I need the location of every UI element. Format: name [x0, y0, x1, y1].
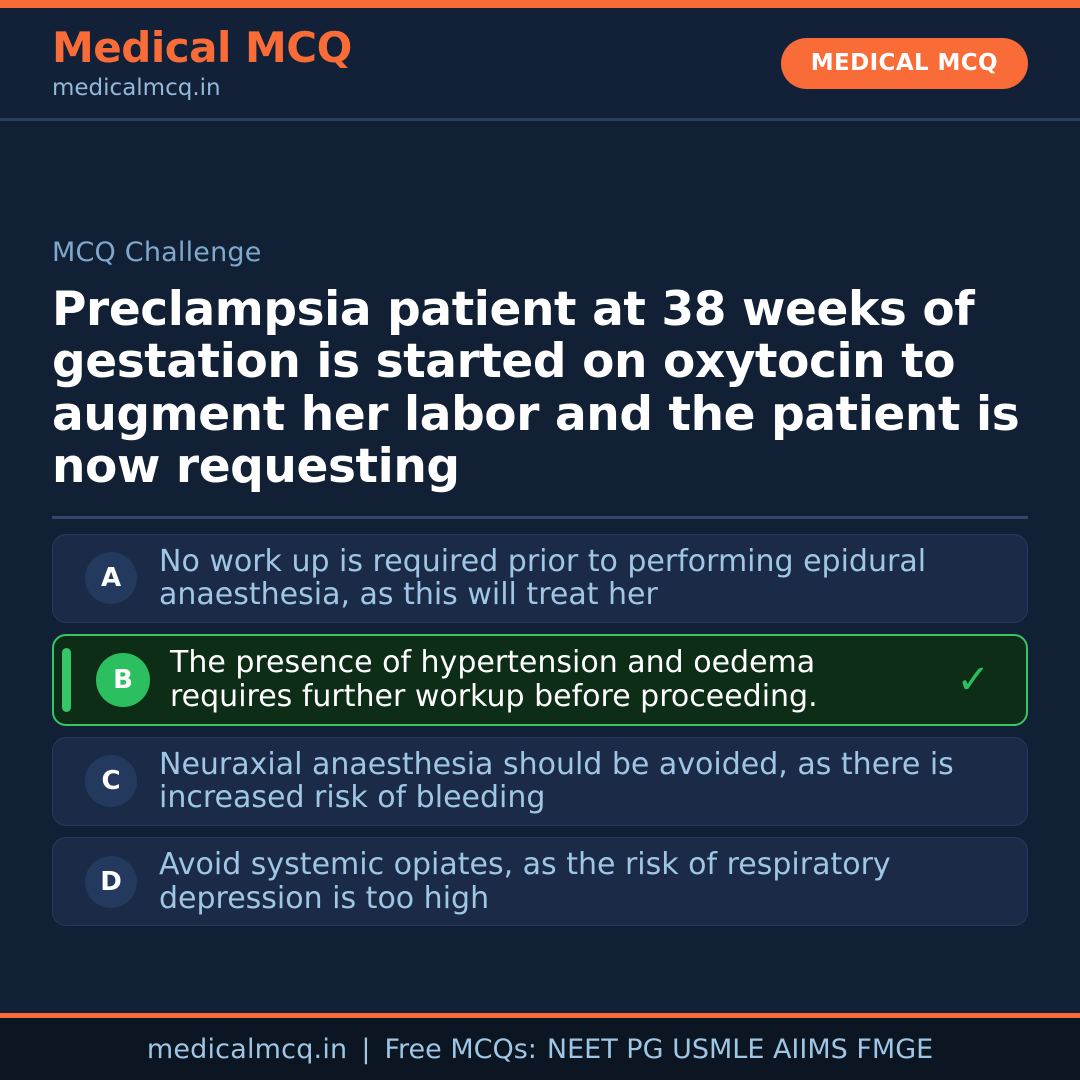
- option-text-c: Neuraxial anaesthesia should be avoided,…: [159, 748, 1005, 815]
- question-divider: [52, 516, 1028, 519]
- options-list: A No work up is required prior to perfor…: [52, 534, 1028, 927]
- brand-subtitle: medicalmcq.in: [52, 77, 352, 100]
- option-row-a[interactable]: A No work up is required prior to perfor…: [52, 534, 1028, 623]
- header: Medical MCQ medicalmcq.in MEDICAL MCQ: [0, 8, 1080, 121]
- brand-title: Medical MCQ: [52, 26, 352, 70]
- footer: medicalmcq.in | Free MCQs: NEET PG USMLE…: [0, 1018, 1080, 1080]
- brand-badge: MEDICAL MCQ: [781, 38, 1028, 89]
- footer-separator: |: [347, 1034, 384, 1065]
- option-letter-d: D: [85, 856, 137, 908]
- option-row-c[interactable]: C Neuraxial anaesthesia should be avoide…: [52, 737, 1028, 826]
- option-letter-c: C: [85, 755, 137, 807]
- brand: Medical MCQ medicalmcq.in: [52, 26, 352, 99]
- option-text-b: The presence of hypertension and oedema …: [170, 646, 956, 713]
- footer-label: Free MCQs:: [384, 1034, 536, 1065]
- footer-exams: NEET PG USMLE AIIMS FMGE: [537, 1034, 933, 1065]
- mcq-slide: Medical MCQ medicalmcq.in MEDICAL MCQ MC…: [0, 0, 1080, 1080]
- main-content: MCQ Challenge Preclampsia patient at 38 …: [0, 121, 1080, 1013]
- option-row-d[interactable]: D Avoid systemic opiates, as the risk of…: [52, 837, 1028, 926]
- option-letter-b: B: [96, 653, 150, 707]
- footer-site: medicalmcq.in: [147, 1034, 348, 1065]
- option-row-b[interactable]: B The presence of hypertension and oedem…: [52, 634, 1028, 726]
- option-text-d: Avoid systemic opiates, as the risk of r…: [159, 848, 1005, 915]
- top-accent-bar: [0, 0, 1080, 8]
- question-text: Preclampsia patient at 38 weeks of gesta…: [52, 284, 1028, 494]
- option-text-a: No work up is required prior to performi…: [159, 545, 1005, 612]
- kicker-label: MCQ Challenge: [52, 239, 1028, 266]
- check-icon: ✓: [956, 660, 990, 700]
- correct-accent-bar: [62, 648, 71, 712]
- option-letter-a: A: [85, 552, 137, 604]
